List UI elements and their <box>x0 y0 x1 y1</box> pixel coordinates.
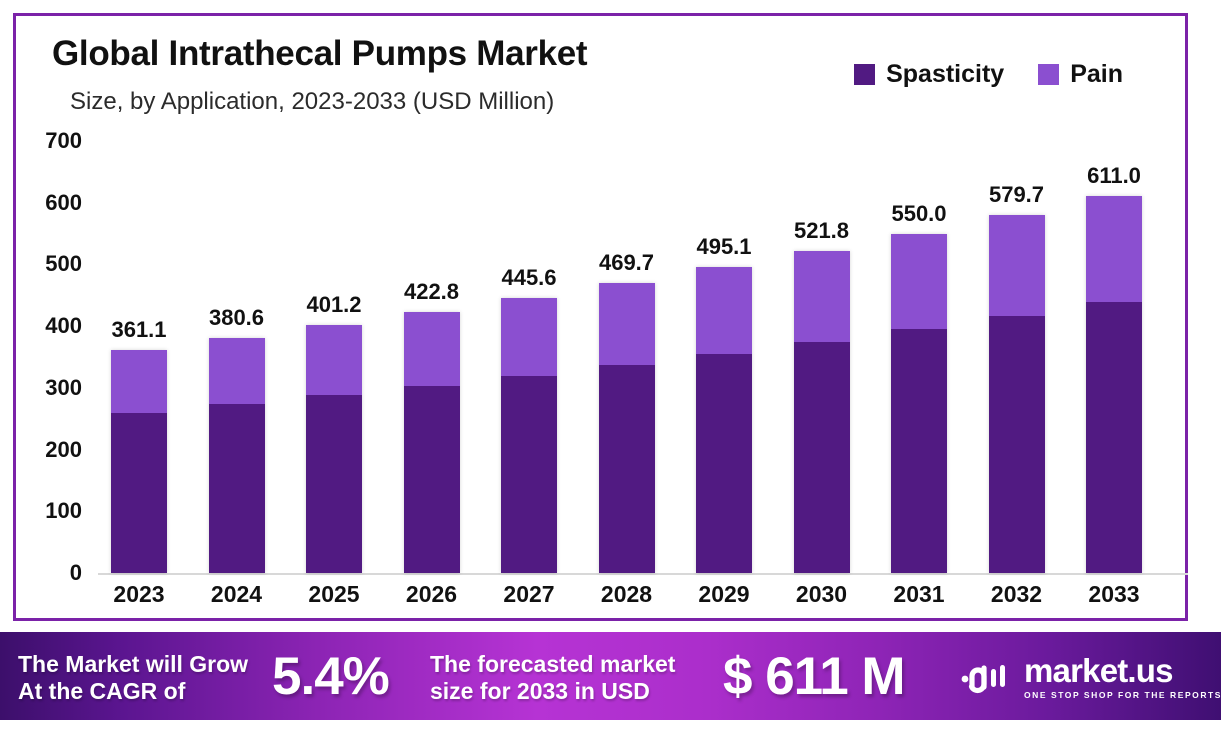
cagr-label-line1: The Market will Grow <box>18 651 248 678</box>
bar-segment-spasticity[interactable] <box>794 342 850 573</box>
x-axis-tick: 2032 <box>989 581 1045 608</box>
chart-legend: Spasticity Pain <box>854 60 1123 89</box>
bar-segment-pain[interactable] <box>1086 196 1142 303</box>
x-axis-tick: 2025 <box>306 581 362 608</box>
bar-segment-spasticity[interactable] <box>696 354 752 573</box>
legend-swatch-icon-pain <box>1038 64 1059 85</box>
bar-group[interactable]: 521.8 <box>794 141 850 573</box>
bar-segment-spasticity[interactable] <box>891 329 947 573</box>
bar-segment-spasticity[interactable] <box>501 376 557 573</box>
bar-value-label: 495.1 <box>696 234 751 260</box>
x-axis-tick: 2028 <box>599 581 655 608</box>
y-axis-tick: 100 <box>45 498 82 524</box>
bar-segment-pain[interactable] <box>209 338 265 404</box>
bar-segment-pain[interactable] <box>599 283 655 365</box>
bar-segment-pain[interactable] <box>794 251 850 342</box>
x-axis-tick: 2026 <box>404 581 460 608</box>
bar-value-label: 445.6 <box>501 265 556 291</box>
bar-group[interactable]: 422.8 <box>404 141 460 573</box>
x-axis-tick: 2023 <box>111 581 167 608</box>
bar-value-label: 550.0 <box>891 201 946 227</box>
cagr-label: The Market will Grow At the CAGR of <box>18 651 248 705</box>
infographic-root: Global Intrathecal Pumps Market Size, by… <box>0 0 1221 740</box>
x-axis-tick: 2030 <box>794 581 850 608</box>
bar-segment-spasticity[interactable] <box>209 404 265 573</box>
logo-name: market.us <box>1024 654 1221 687</box>
bar-segment-pain[interactable] <box>501 298 557 376</box>
bar-segment-spasticity[interactable] <box>306 395 362 573</box>
bar-segment-pain[interactable] <box>989 215 1045 316</box>
chart-subtitle: Size, by Application, 2023-2033 (USD Mil… <box>70 88 554 116</box>
stacked-bar[interactable] <box>306 325 362 573</box>
market-us-wordmark: market.us ONE STOP SHOP FOR THE REPORTS <box>1024 654 1221 700</box>
y-axis: 7006005004003002001000 <box>16 141 90 573</box>
chart-card: Global Intrathecal Pumps Market Size, by… <box>13 13 1188 621</box>
bar-value-label: 521.8 <box>794 218 849 244</box>
y-axis-tick: 600 <box>45 190 82 216</box>
cagr-label-line2: At the CAGR of <box>18 678 248 705</box>
bar-segment-spasticity[interactable] <box>404 386 460 573</box>
forecast-label: The forecasted market size for 2033 in U… <box>430 651 675 705</box>
bar-series-area: 361.1380.6401.2422.8445.6469.7495.1521.8… <box>111 141 1191 573</box>
bar-group[interactable]: 611.0 <box>1086 141 1142 573</box>
y-axis-tick: 700 <box>45 128 82 154</box>
x-axis-tick: 2029 <box>696 581 752 608</box>
bar-segment-spasticity[interactable] <box>599 365 655 573</box>
cagr-value: 5.4% <box>272 646 389 707</box>
legend-swatch-icon-spasticity <box>854 64 875 85</box>
bar-segment-pain[interactable] <box>696 267 752 353</box>
chart-title: Global Intrathecal Pumps Market <box>52 34 587 74</box>
y-axis-tick: 400 <box>45 313 82 339</box>
stacked-bar[interactable] <box>599 283 655 573</box>
bar-segment-pain[interactable] <box>404 312 460 386</box>
stacked-bar[interactable] <box>989 215 1045 573</box>
x-axis-tick: 2027 <box>501 581 557 608</box>
forecast-value: $ 611 M <box>723 646 905 707</box>
bar-value-label: 380.6 <box>209 305 264 331</box>
y-axis-tick: 500 <box>45 251 82 277</box>
bar-segment-spasticity[interactable] <box>111 413 167 573</box>
x-axis-tick: 2031 <box>891 581 947 608</box>
x-axis-tick: 2024 <box>209 581 265 608</box>
logo-tagline: ONE STOP SHOP FOR THE REPORTS <box>1024 690 1221 700</box>
stacked-bar[interactable] <box>1086 196 1142 573</box>
legend-item-pain[interactable]: Pain <box>1038 60 1123 89</box>
market-us-mark-icon <box>960 657 1014 697</box>
forecast-label-line2: size for 2033 in USD <box>430 678 675 705</box>
forecast-label-line1: The forecasted market <box>430 651 675 678</box>
bar-group[interactable]: 469.7 <box>599 141 655 573</box>
bar-segment-spasticity[interactable] <box>989 316 1045 573</box>
y-axis-tick: 0 <box>70 560 82 586</box>
stacked-bar[interactable] <box>891 234 947 573</box>
bar-value-label: 579.7 <box>989 182 1044 208</box>
bar-segment-pain[interactable] <box>306 325 362 395</box>
bar-value-label: 469.7 <box>599 250 654 276</box>
legend-label-pain: Pain <box>1070 60 1123 89</box>
x-axis-line <box>98 573 1188 575</box>
stacked-bar[interactable] <box>501 298 557 573</box>
bottom-summary-banner: The Market will Grow At the CAGR of 5.4%… <box>0 632 1221 720</box>
x-axis: 2023202420252026202720282029203020312032… <box>111 581 1191 615</box>
bar-group[interactable]: 579.7 <box>989 141 1045 573</box>
bar-value-label: 422.8 <box>404 279 459 305</box>
market-us-logo[interactable]: market.us ONE STOP SHOP FOR THE REPORTS <box>960 654 1221 700</box>
legend-label-spasticity: Spasticity <box>886 60 1004 89</box>
stacked-bar[interactable] <box>794 251 850 573</box>
legend-item-spasticity[interactable]: Spasticity <box>854 60 1004 89</box>
bar-group[interactable]: 550.0 <box>891 141 947 573</box>
x-axis-tick: 2033 <box>1086 581 1142 608</box>
bar-value-label: 611.0 <box>1087 163 1141 189</box>
y-axis-tick: 200 <box>45 437 82 463</box>
stacked-bar[interactable] <box>404 312 460 573</box>
bar-value-label: 401.2 <box>306 292 361 318</box>
stacked-bar[interactable] <box>209 338 265 573</box>
bar-segment-pain[interactable] <box>891 234 947 330</box>
stacked-bar[interactable] <box>696 267 752 573</box>
bar-value-label: 361.1 <box>111 317 166 343</box>
bar-segment-spasticity[interactable] <box>1086 302 1142 573</box>
bar-group[interactable]: 380.6 <box>209 141 265 573</box>
bar-segment-pain[interactable] <box>111 350 167 413</box>
bar-group[interactable]: 495.1 <box>696 141 752 573</box>
bar-group[interactable]: 445.6 <box>501 141 557 573</box>
bar-group[interactable]: 361.1 <box>111 141 167 573</box>
bar-group[interactable]: 401.2 <box>306 141 362 573</box>
y-axis-tick: 300 <box>45 375 82 401</box>
stacked-bar[interactable] <box>111 350 167 573</box>
